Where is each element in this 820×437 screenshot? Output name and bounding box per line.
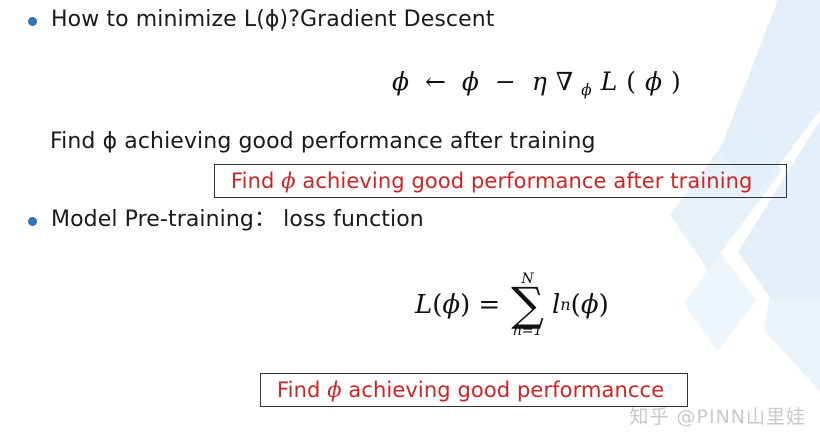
eq1-phi-term: ϕ (462, 67, 480, 96)
eq2-sum-glyph: ∑ (511, 287, 544, 323)
eq2-term-paren-close: ) (599, 290, 609, 320)
eq2-paren-close: ) (460, 290, 470, 320)
eq2-term-phi: ϕ (581, 290, 599, 320)
highlight-box-top-suffix: achieving good performance after trainin… (296, 169, 753, 193)
bullet-dot-icon (28, 217, 37, 226)
bullet-item-how-to-minimize: How to minimize L(ϕ)?Gradient Descent (28, 6, 495, 34)
bullet-dot-icon (28, 17, 37, 26)
bullet-item-model-pretraining: Model Pre-training： loss function (28, 206, 424, 234)
eq1-arrow: ← (425, 67, 446, 96)
bullet-item-label: How to minimize L(ϕ)?Gradient Descent (51, 6, 495, 34)
highlight-box-bottom: Find ϕ achieving good performancce (260, 373, 688, 407)
highlight-box-top-prefix: Find (231, 169, 281, 193)
eq1-nabla: ∇ (556, 67, 574, 96)
watermark-text: 知乎 @PINN山里娃 (629, 402, 806, 429)
eq1-eta: η (532, 67, 547, 96)
eq1-minus: − (495, 67, 516, 96)
eq1-phi-arg: ϕ (645, 67, 663, 96)
eq2-term-superscript: n (560, 295, 570, 314)
eq2-sum-lower-limit: n=1 (513, 324, 543, 338)
eq1-loss-L: L (601, 67, 618, 96)
eq2-phi-arg: ϕ (442, 290, 460, 320)
highlight-box-bottom-text: Find ϕ achieving good performancce (261, 378, 664, 402)
eq2-summation-operator: N ∑ n=1 (511, 272, 544, 338)
equation-loss-summation: L ( ϕ ) = N ∑ n=1 l n ( ϕ ) (415, 272, 609, 338)
equation-gradient-descent-update: ϕ ← ϕ − η ∇ ϕ L ( ϕ ) (392, 67, 681, 99)
eq2-paren-open: ( (432, 290, 442, 320)
slide-canvas: How to minimize L(ϕ)?Gradient Descent ϕ … (0, 0, 820, 437)
highlight-box-bottom-suffix: achieving good performancce (342, 378, 665, 402)
decoration-svg (660, 0, 820, 437)
eq2-loss-L: L (415, 290, 432, 320)
highlight-box-top-text: Find ϕ achieving good performance after … (215, 169, 752, 193)
eq1-paren-open: ( (626, 67, 636, 96)
highlight-box-bottom-symbol: ϕ (327, 378, 341, 402)
eq1-nabla-subscript: ϕ (581, 81, 592, 99)
eq1-phi-lhs: ϕ (392, 67, 410, 96)
eq1-paren-close: ) (671, 67, 681, 96)
bullet-item-label: Model Pre-training： loss function (51, 206, 424, 234)
paragraph-find-phi: Find ϕ achieving good performance after … (50, 129, 596, 154)
decorative-diagonal-shapes (660, 0, 820, 437)
eq2-term-paren-open: ( (571, 290, 581, 320)
eq2-equals: = (478, 290, 500, 320)
highlight-box-top-symbol: ϕ (281, 169, 295, 193)
eq2-term-l: l (552, 290, 560, 320)
highlight-box-top: Find ϕ achieving good performance after … (214, 164, 787, 198)
highlight-box-bottom-prefix: Find (277, 378, 327, 402)
